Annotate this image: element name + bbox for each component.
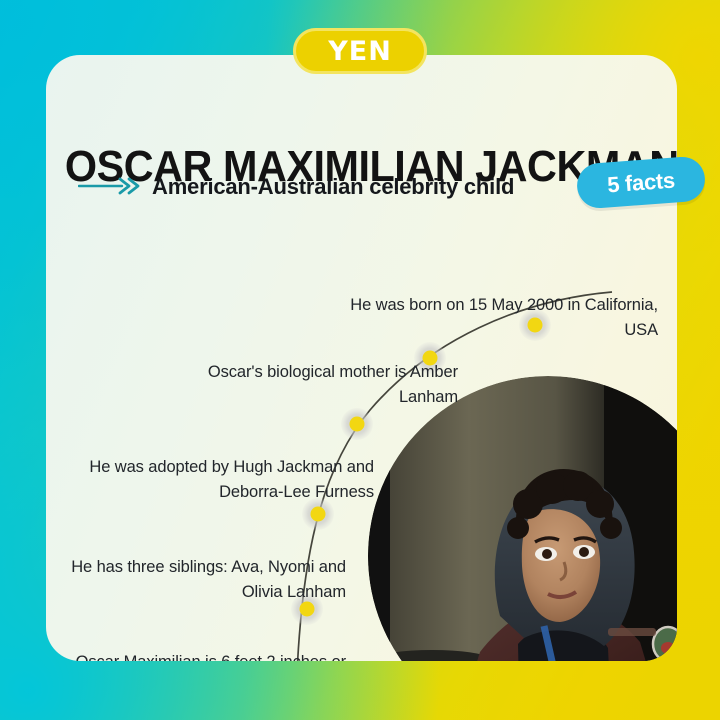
yen-logo[interactable]: YEN	[293, 28, 427, 74]
profile-photo	[368, 376, 677, 661]
fact-text-2: Oscar's biological mother is Amber Lanha…	[156, 360, 458, 410]
fact-count-badge: 5 facts	[576, 155, 707, 209]
fact-text-3: He was adopted by Hugh Jackman and Debor…	[86, 455, 374, 505]
photo-illustration	[368, 376, 677, 661]
double-chevron-right-arrow-icon	[78, 177, 142, 200]
subtitle-row: American-Australian celebrity child	[78, 170, 548, 203]
yen-logo-text: YEN	[328, 36, 392, 67]
fact-text-4: He has three siblings: Ava, Nyomi and Ol…	[66, 555, 346, 605]
page-subtitle: American-Australian celebrity child	[152, 170, 514, 203]
fact-count-label: 5 facts	[606, 167, 675, 198]
fact-text-5: Oscar Maximilian is 6 feet 2 inches or 1…	[46, 650, 346, 661]
fact-text-1: He was born on 15 May 2000 in California…	[346, 293, 658, 343]
infographic-card: OSCAR MAXIMILIAN JACKMAN American-Austra…	[46, 55, 677, 661]
